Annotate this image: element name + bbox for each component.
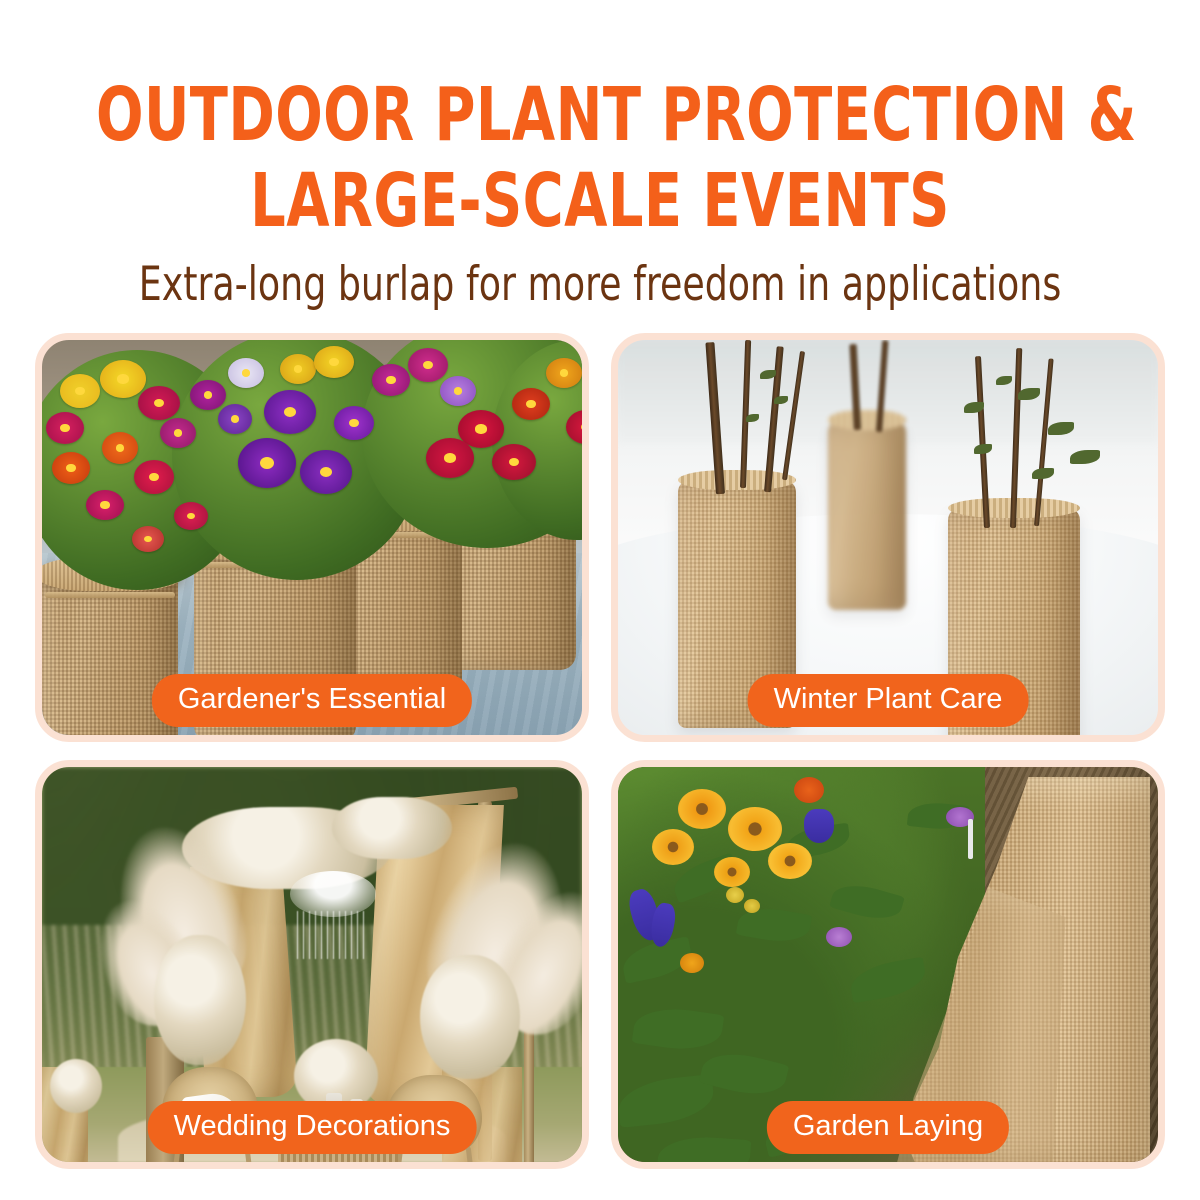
pansy-bloom: [60, 374, 100, 408]
wrap-fringe: [828, 410, 906, 430]
floral-garland-right: [332, 797, 452, 859]
panel-gardeners-essential[interactable]: Gardener's Essential: [35, 333, 589, 742]
pansy-bloom: [52, 452, 90, 484]
pansy-bloom: [440, 376, 476, 406]
side-bouquet-right: [420, 955, 520, 1079]
page-title-line-2: LARGE-SCALE EVENTS: [96, 164, 1104, 238]
plant-marker: [968, 819, 973, 859]
badge-winter-plant-care: Winter Plant Care: [748, 674, 1029, 727]
pansy-bloom: [546, 358, 582, 388]
wrap-fringe: [678, 470, 796, 490]
sapling-leaf: [1070, 450, 1100, 464]
pansy-bloom: [190, 380, 226, 410]
badge-garden-laying: Garden Laying: [767, 1101, 1009, 1154]
pansy-bloom: [160, 418, 196, 448]
panel-winter-plant-care[interactable]: Winter Plant Care: [611, 333, 1165, 742]
pansy-bloom: [132, 526, 164, 552]
orange-flower: [714, 857, 750, 887]
pansy-bloom: [228, 358, 264, 388]
yellow-bud: [744, 899, 760, 913]
header: OUTDOOR PLANT PROTECTION & LARGE-SCALE E…: [0, 0, 1200, 310]
panel-garden-laying[interactable]: Garden Laying: [611, 760, 1165, 1169]
side-bouquet-left: [154, 935, 246, 1065]
sack-tie: [45, 592, 176, 598]
orange-flower: [768, 843, 812, 879]
pansy-bloom: [134, 460, 174, 494]
panel-wedding-decorations[interactable]: Wedding Decorations: [35, 760, 589, 1169]
pansy-bloom: [372, 364, 410, 396]
orange-flower: [728, 807, 782, 851]
pansy-bloom: [408, 348, 448, 382]
orange-flower: [678, 789, 726, 829]
sapling-leaf: [974, 444, 992, 454]
pansy-bloom: [280, 354, 316, 384]
pansy-bloom: [492, 444, 536, 480]
page-title-line-1: OUTDOOR PLANT PROTECTION &: [96, 78, 1104, 152]
pansy-bloom: [86, 490, 124, 520]
feature-panel-grid: Gardener's Essential: [35, 333, 1165, 1169]
crystal-chandelier: [290, 871, 376, 959]
orange-flower: [652, 829, 694, 865]
pansy-bloom: [314, 346, 354, 378]
badge-gardeners-essential: Gardener's Essential: [152, 674, 472, 727]
pansy-bloom: [218, 404, 252, 434]
side-bouquet-far-left: [50, 1059, 102, 1113]
orange-flower: [794, 777, 824, 803]
pansy-bloom: [334, 406, 374, 440]
badge-wedding-decorations: Wedding Decorations: [148, 1101, 477, 1154]
blue-salvia: [804, 809, 834, 843]
pansy-bloom: [102, 432, 138, 464]
pansy-bloom: [46, 412, 84, 444]
burlap-wrap-middle: [828, 420, 906, 610]
pansy-bloom: [138, 386, 180, 420]
sapling-leaf: [1032, 468, 1054, 479]
orange-flower: [680, 953, 704, 973]
page-subtitle: Extra-long burlap for more freedom in ap…: [84, 238, 1116, 310]
pansy-bloom: [238, 438, 296, 488]
purple-flower: [826, 927, 852, 947]
pansy-bloom: [100, 360, 146, 398]
pansy-bloom: [300, 450, 352, 494]
pansy-bloom: [512, 388, 550, 420]
pansy-bloom: [174, 502, 208, 530]
chandelier-crystal-strands: [297, 911, 369, 959]
yellow-bud: [726, 887, 744, 903]
pansy-bloom: [426, 438, 474, 478]
pansy-bloom: [264, 390, 316, 434]
